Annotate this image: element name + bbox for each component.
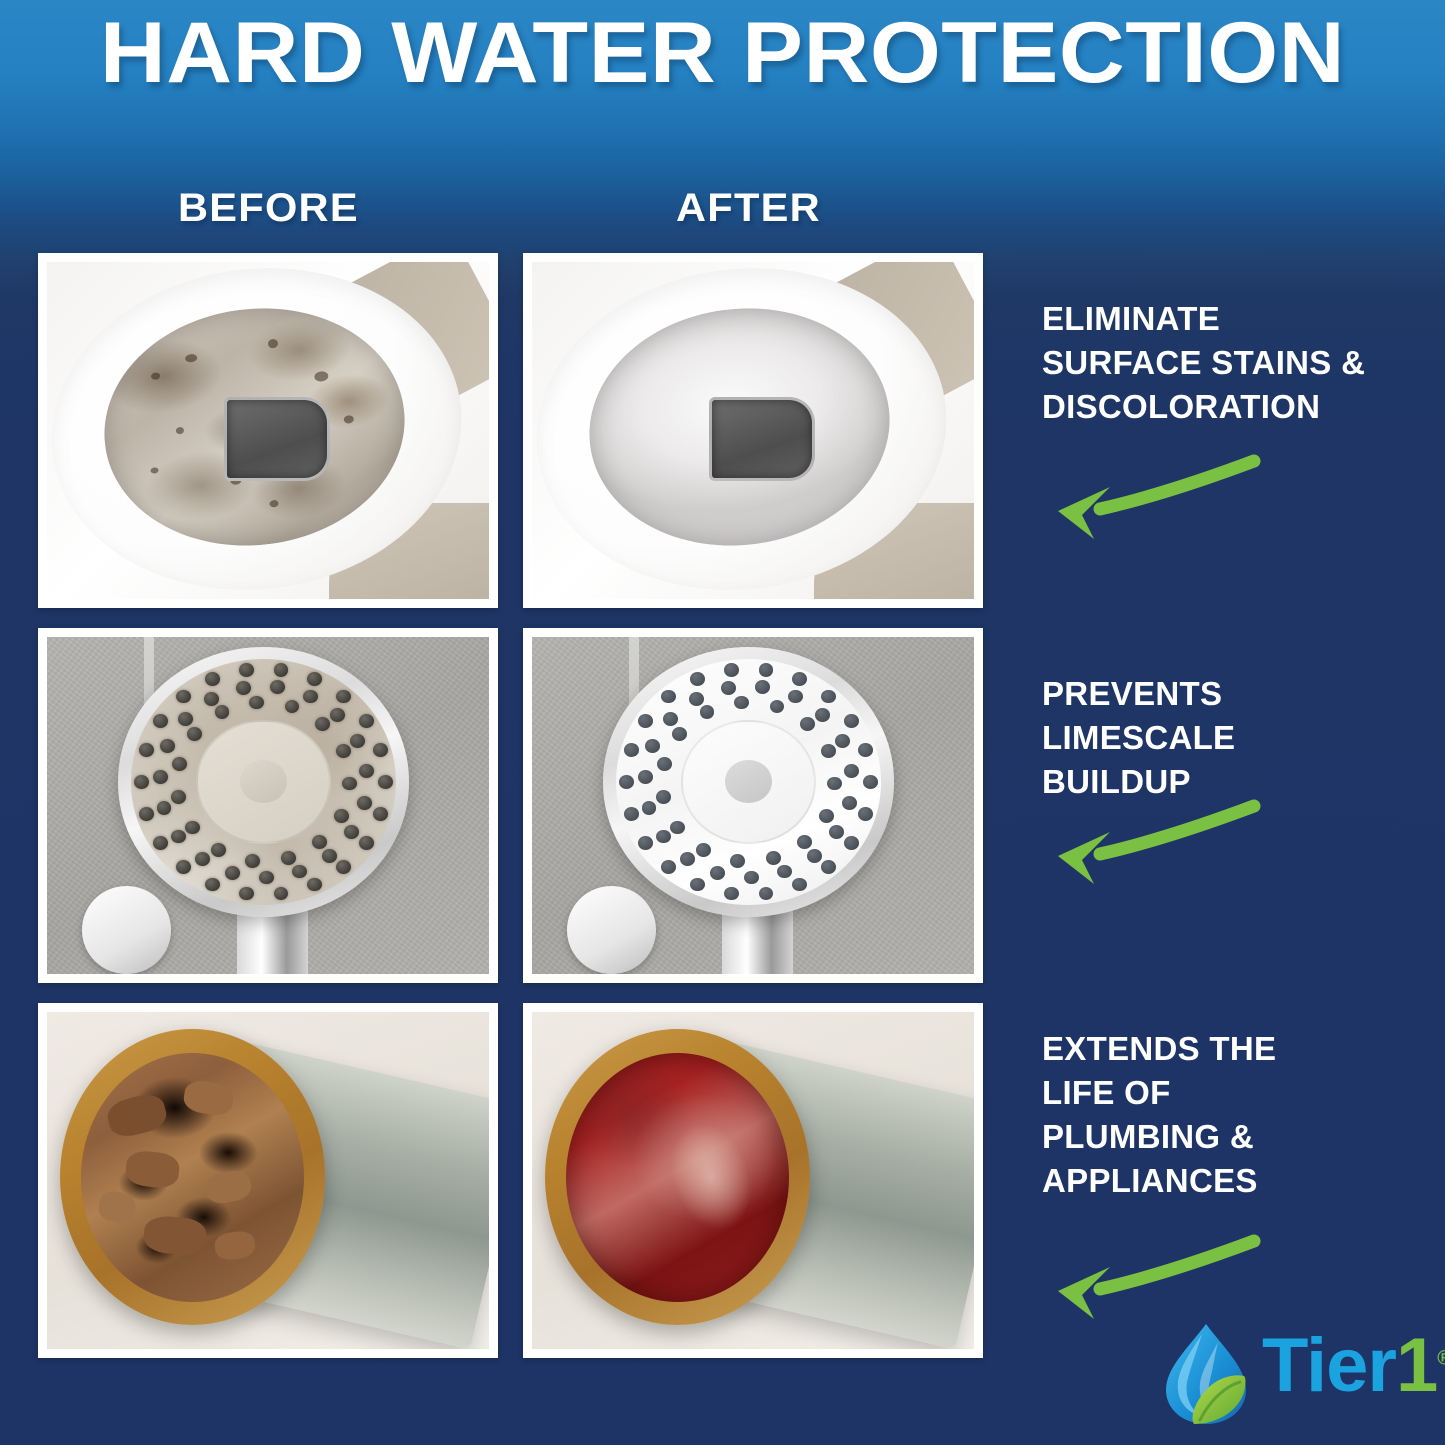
shower-handle bbox=[722, 907, 793, 974]
showerhead-nozzle bbox=[842, 796, 857, 810]
showerhead-nozzle bbox=[359, 836, 374, 850]
showerhead-nozzle bbox=[670, 821, 685, 835]
photo-panel-pipe-after bbox=[523, 1003, 983, 1358]
shower-handle bbox=[237, 907, 308, 974]
showerhead-nozzle bbox=[236, 681, 251, 695]
showerhead-nozzle bbox=[249, 696, 264, 710]
showerhead-nozzle bbox=[153, 836, 168, 850]
showerhead-nozzle bbox=[827, 777, 842, 791]
showerhead-nozzle bbox=[195, 852, 210, 866]
showerhead-nozzle bbox=[638, 836, 653, 850]
logo-registered-mark: ® bbox=[1437, 1348, 1445, 1370]
pipe-cut-rim bbox=[545, 1029, 810, 1326]
photo-panel-toilet-after bbox=[523, 253, 983, 608]
showerhead-nozzle bbox=[204, 692, 219, 706]
showerhead-nozzle bbox=[336, 744, 351, 758]
tier1-logo: Tier1® bbox=[1158, 1322, 1426, 1430]
callout-extends-life: EXTENDS THE LIFE OF PLUMBING & APPLIANCE… bbox=[1042, 1027, 1276, 1203]
showerhead-nozzle bbox=[724, 663, 739, 677]
showerhead-nozzle bbox=[378, 775, 393, 789]
showerhead-nozzle bbox=[661, 690, 676, 704]
pipe-bore-corroded bbox=[81, 1053, 304, 1302]
hard-water-protection-infographic: HARD WATER PROTECTION BEFORE AFTER bbox=[0, 0, 1445, 1445]
showerhead-nozzle bbox=[672, 727, 687, 741]
water-drop-leaf-icon bbox=[1158, 1322, 1254, 1426]
showerhead-nozzle bbox=[645, 739, 660, 753]
pipe-interior-sheen bbox=[658, 1113, 764, 1241]
showerhead-nozzle bbox=[700, 705, 715, 719]
showerhead-nozzle bbox=[766, 851, 781, 865]
showerhead-nozzle bbox=[821, 690, 836, 704]
showerhead-nozzle bbox=[797, 835, 812, 849]
pipe-bore-clean bbox=[566, 1053, 789, 1302]
showerhead-nozzle bbox=[721, 681, 736, 695]
toilet-drain-hole bbox=[224, 397, 330, 481]
showerhead-nozzle bbox=[350, 734, 365, 748]
showerhead-nozzle bbox=[292, 865, 307, 879]
showerhead-nozzle bbox=[759, 887, 774, 901]
showerhead-nozzle bbox=[259, 871, 274, 885]
toilet-drain-hole bbox=[709, 397, 815, 481]
showerhead-nozzle bbox=[624, 743, 639, 757]
showerhead-nozzle bbox=[205, 672, 220, 686]
showerhead-nozzle bbox=[690, 672, 705, 686]
showerhead-nozzle bbox=[178, 712, 193, 726]
showerhead-nozzle bbox=[638, 770, 653, 784]
showerhead-nozzle bbox=[800, 717, 815, 731]
showerhead-nozzle bbox=[281, 851, 296, 865]
shower-diverter-knob bbox=[567, 886, 655, 974]
showerhead-nozzle bbox=[624, 807, 639, 821]
showerhead-nozzle bbox=[336, 860, 351, 874]
showerhead-nozzle bbox=[858, 743, 873, 757]
showerhead-nozzle bbox=[792, 878, 807, 892]
showerhead-nozzle bbox=[312, 835, 327, 849]
showerhead-nozzle bbox=[215, 705, 230, 719]
photo-panel-pipe-before bbox=[38, 1003, 498, 1358]
showerhead-nozzle bbox=[661, 860, 676, 874]
curved-arrow-left-icon bbox=[1022, 1227, 1282, 1337]
showerhead-nozzle bbox=[274, 887, 289, 901]
showerhead-nozzle bbox=[160, 739, 175, 753]
callout-eliminate-stains-text: ELIMINATE SURFACE STAINS & DISCOLORATION bbox=[1042, 297, 1365, 429]
pipe-before-image bbox=[47, 1012, 489, 1349]
showerhead-nozzle bbox=[139, 743, 154, 757]
showerhead-nozzle bbox=[744, 871, 759, 885]
showerhead-nozzle bbox=[359, 714, 374, 728]
showerhead-nozzle bbox=[619, 775, 634, 789]
showerhead-nozzle bbox=[171, 790, 186, 804]
showerhead-nozzle bbox=[863, 775, 878, 789]
showerhead-nozzle bbox=[657, 757, 672, 771]
curved-arrow-left-icon bbox=[1022, 792, 1282, 902]
showerhead-nozzle bbox=[858, 807, 873, 821]
showerhead-nozzle bbox=[330, 708, 345, 722]
showerhead-nozzle bbox=[359, 764, 374, 778]
showerhead-nozzle bbox=[770, 700, 785, 714]
showerhead-nozzle bbox=[730, 854, 745, 868]
toilet-after-image bbox=[532, 262, 974, 599]
showerhead-nozzle bbox=[807, 849, 822, 863]
after-column-label: AFTER bbox=[676, 186, 821, 231]
showerhead-nozzle bbox=[724, 887, 739, 901]
showerhead-chrome-ring bbox=[118, 647, 410, 917]
showerhead-nozzle bbox=[821, 744, 836, 758]
showerhead-nozzle bbox=[185, 821, 200, 835]
showerhead-nozzle bbox=[656, 790, 671, 804]
photo-panel-showerhead-after bbox=[523, 628, 983, 983]
showerhead-nozzle bbox=[835, 734, 850, 748]
showerhead-nozzle bbox=[680, 852, 695, 866]
showerhead-nozzle bbox=[734, 696, 749, 710]
showerhead-nozzle bbox=[176, 690, 191, 704]
showerhead-nozzle bbox=[336, 690, 351, 704]
showerhead-nozzle bbox=[322, 849, 337, 863]
shower-diverter-knob bbox=[82, 886, 170, 974]
showerhead-nozzle bbox=[153, 714, 168, 728]
showerhead-nozzle bbox=[315, 717, 330, 731]
showerhead-nozzle bbox=[656, 830, 671, 844]
showerhead-chrome-ring bbox=[603, 647, 895, 917]
photo-panel-showerhead-before bbox=[38, 628, 498, 983]
showerhead-nozzle bbox=[211, 843, 226, 857]
callout-prevents-limescale-text: PREVENTS LIMESCALE BUILDUP bbox=[1042, 672, 1235, 804]
showerhead-nozzle bbox=[689, 692, 704, 706]
showerhead-nozzle bbox=[788, 690, 803, 704]
showerhead-nozzle bbox=[157, 801, 172, 815]
showerhead-before-image bbox=[47, 637, 489, 974]
showerhead-nozzle bbox=[303, 690, 318, 704]
showerhead-nozzle bbox=[187, 727, 202, 741]
showerhead-nozzle bbox=[710, 866, 725, 880]
showerhead-nozzle bbox=[334, 809, 349, 823]
showerhead-after-image bbox=[532, 637, 974, 974]
showerhead-nozzle bbox=[638, 714, 653, 728]
showerhead-nozzle bbox=[270, 680, 285, 694]
showerhead-nozzle bbox=[285, 700, 300, 714]
showerhead-nozzle bbox=[307, 672, 322, 686]
showerhead-nozzle bbox=[176, 860, 191, 874]
showerhead-nozzle bbox=[821, 860, 836, 874]
showerhead-nozzle bbox=[844, 714, 859, 728]
showerhead-nozzle bbox=[205, 878, 220, 892]
showerhead-nozzle bbox=[239, 663, 254, 677]
showerhead-nozzle bbox=[696, 843, 711, 857]
showerhead-nozzle bbox=[663, 712, 678, 726]
showerhead-nozzle bbox=[642, 801, 657, 815]
page-title: HARD WATER PROTECTION bbox=[0, 8, 1445, 98]
showerhead-nozzle bbox=[153, 770, 168, 784]
showerhead-nozzle bbox=[239, 887, 254, 901]
showerhead-nozzle bbox=[172, 757, 187, 771]
showerhead-nozzle bbox=[344, 825, 359, 839]
callout-extends-life-text: EXTENDS THE LIFE OF PLUMBING & APPLIANCE… bbox=[1042, 1027, 1276, 1203]
pipe-after-image bbox=[532, 1012, 974, 1349]
showerhead-nozzle bbox=[792, 672, 807, 686]
showerhead-nozzle bbox=[844, 836, 859, 850]
showerhead-nozzle bbox=[819, 809, 834, 823]
pipe-cut-rim bbox=[60, 1029, 325, 1326]
showerhead-nozzle bbox=[373, 743, 388, 757]
showerhead-nozzle bbox=[373, 807, 388, 821]
toilet-before-image bbox=[47, 262, 489, 599]
curved-arrow-left-icon bbox=[1022, 447, 1282, 557]
callout-eliminate-stains: ELIMINATE SURFACE STAINS & DISCOLORATION bbox=[1042, 297, 1365, 429]
logo-word-one: 1 bbox=[1396, 1323, 1437, 1408]
showerhead-nozzle bbox=[274, 663, 289, 677]
showerhead-nozzle bbox=[307, 878, 322, 892]
showerhead-nozzle bbox=[134, 775, 149, 789]
showerhead-nozzle bbox=[829, 825, 844, 839]
tier1-wordmark: Tier1® bbox=[1262, 1328, 1445, 1404]
logo-word-tier: Tier bbox=[1262, 1323, 1396, 1408]
showerhead-nozzle bbox=[245, 854, 260, 868]
showerhead-nozzle bbox=[755, 680, 770, 694]
showerhead-nozzle bbox=[139, 807, 154, 821]
showerhead-nozzle bbox=[815, 708, 830, 722]
showerhead-nozzle bbox=[844, 764, 859, 778]
showerhead-nozzle bbox=[690, 878, 705, 892]
before-column-label: BEFORE bbox=[178, 186, 359, 231]
showerhead-nozzle bbox=[171, 830, 186, 844]
showerhead-nozzle bbox=[777, 865, 792, 879]
showerhead-nozzle bbox=[225, 866, 240, 880]
callout-prevents-limescale: PREVENTS LIMESCALE BUILDUP bbox=[1042, 672, 1235, 804]
photo-panel-toilet-before bbox=[38, 253, 498, 608]
showerhead-nozzle bbox=[357, 796, 372, 810]
showerhead-nozzle bbox=[342, 777, 357, 791]
showerhead-nozzle bbox=[759, 663, 774, 677]
